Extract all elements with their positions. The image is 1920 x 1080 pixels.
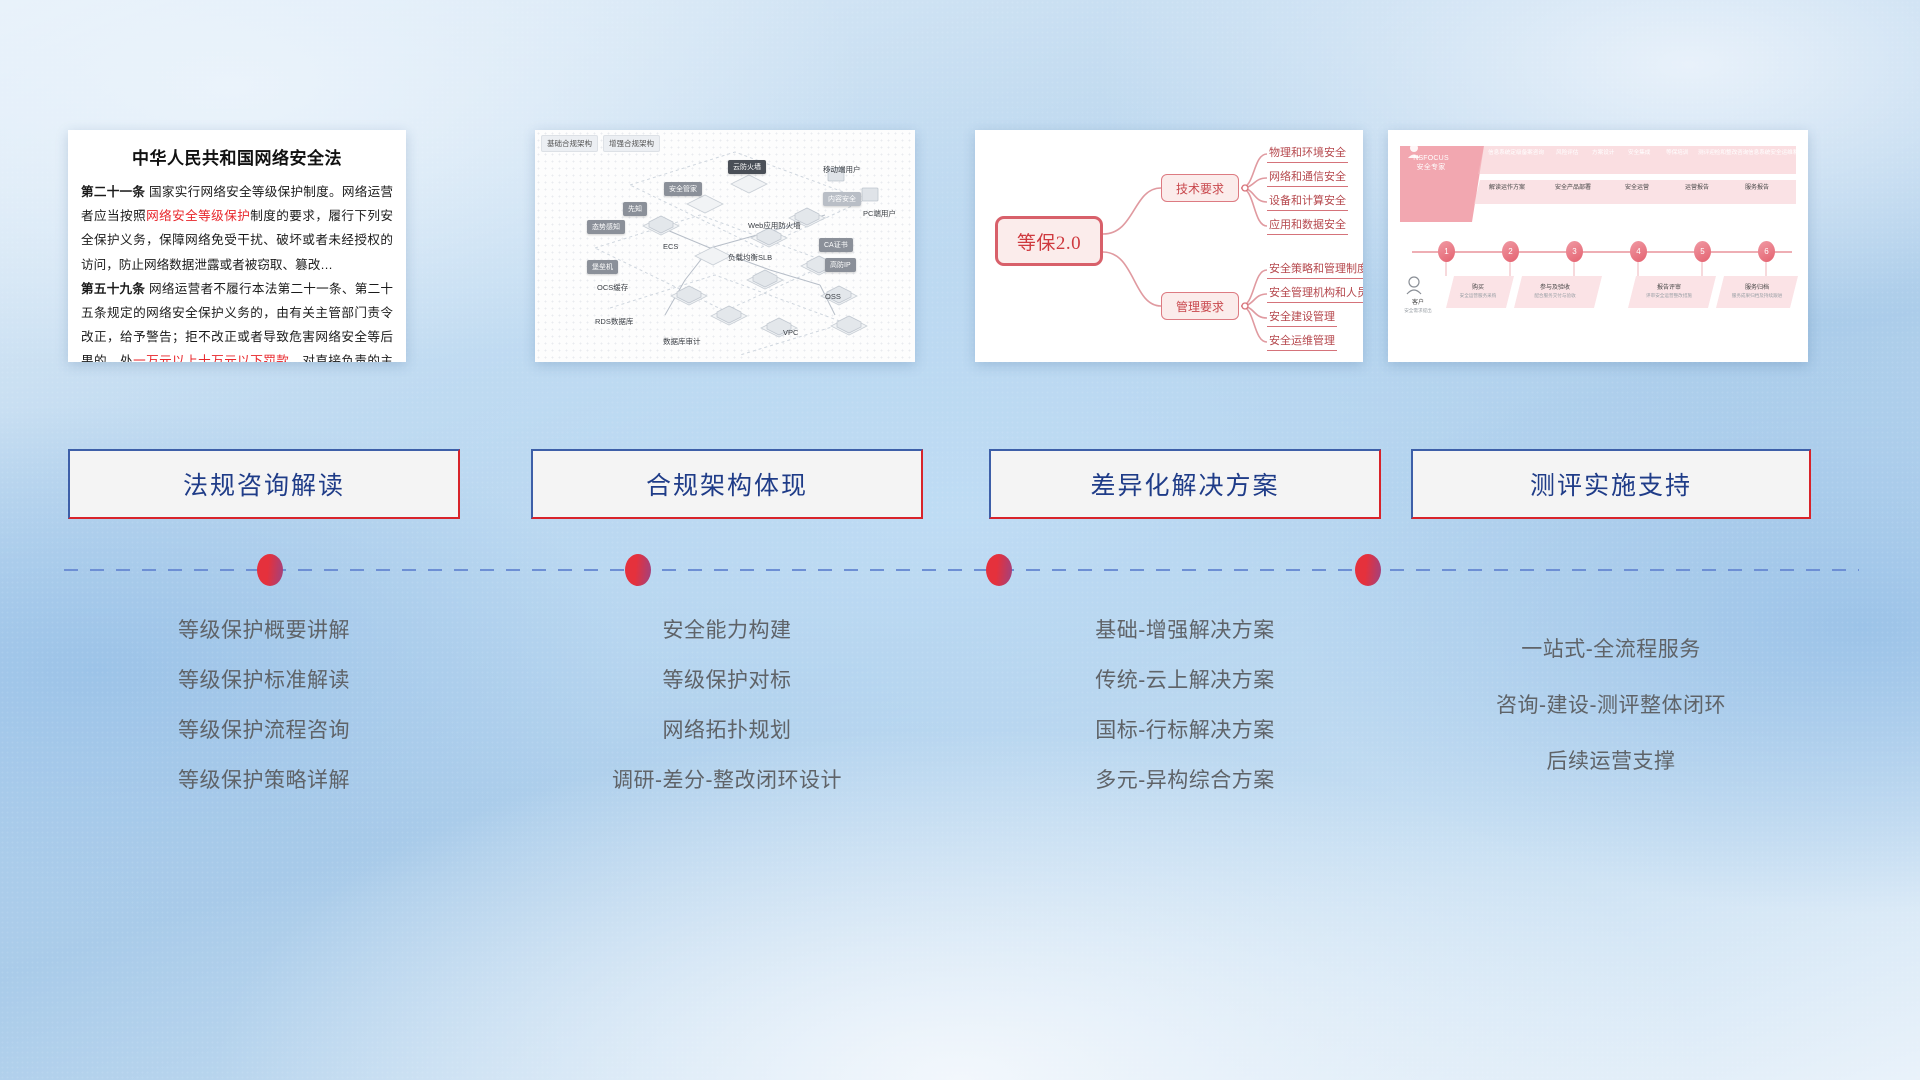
list-item: 基础-增强解决方案 <box>989 606 1381 656</box>
heading-box-regulation-consulting[interactable]: 法规咨询解读 <box>68 449 460 519</box>
timeline-step-4: 4 <box>1630 241 1647 262</box>
timeline-step-5: 5 <box>1694 241 1711 262</box>
node-ocs-cache: OCS缓存 <box>597 282 628 293</box>
action-purchase-sub: 安全运营服务采购 <box>1460 293 1497 298</box>
heading-label-regulation-consulting: 法规咨询解读 <box>183 466 345 502</box>
timeline-marker-2[interactable] <box>625 554 651 586</box>
chip-continuous-improvement: 信息系统安全运维和持续改进咨询 <box>1748 150 1808 157</box>
action-service-archive-sub: 服务成果归档及持续跟进 <box>1732 293 1783 298</box>
list-differentiated-solution: 基础-增强解决方案 传统-云上解决方案 国标-行标解决方案 多元-异构综合方案 <box>989 606 1381 806</box>
heading-box-compliance-architecture[interactable]: 合规架构体现 <box>531 449 923 519</box>
node-ca-certificate: CA证书 <box>819 238 853 252</box>
timeline <box>64 569 1859 571</box>
list-item: 等级保护对标 <box>531 656 923 706</box>
node-db-audit: 数据库审计 <box>663 336 701 347</box>
timeline-step-2: 2 <box>1502 241 1519 262</box>
stage-label-ops-report: 运营报告 <box>1672 185 1722 193</box>
mindmap-leaf-app-data: 应用和数据安全 <box>1267 216 1348 235</box>
law-body: 第二十一条 国家实行网络安全等级保护制度。网络运营者应当按照网络安全等级保护制度… <box>81 180 393 362</box>
action-report-review-label: 报告评审 <box>1657 285 1681 291</box>
list-item: 等级保护概要讲解 <box>68 606 460 656</box>
action-report-review: 报告评审 评审安全运营整改措施 <box>1634 285 1704 301</box>
card-architecture-diagram[interactable]: 基础合规架构 增强合规架构 <box>535 130 915 362</box>
action-participate-label: 参与及验收 <box>1540 285 1570 291</box>
action-service-archive-label: 服务归档 <box>1745 285 1769 291</box>
action-participate-sub: 配合服务交付与验收 <box>1534 293 1575 298</box>
law-article-59: 第五十九条 网络运营者不履行本法第二十一条、第二十五条规定的网络安全保护义务的，… <box>81 277 393 362</box>
mindmap-leaf-policy-system: 安全策略和管理制度 <box>1267 260 1363 279</box>
list-item: 一站式-全流程服务 <box>1411 622 1811 678</box>
card-mindmap[interactable]: 等保2.0 技术要求 管理要求 物理和环境安全 网络和通信安全 设备和计算安全 … <box>975 130 1363 362</box>
law-article-21-label: 第二十一条 <box>81 185 145 199</box>
mindmap-leaf-construction: 安全建设管理 <box>1267 308 1337 327</box>
chip-training: 等保培训 <box>1666 150 1688 157</box>
nsfocus-brand-tagline: 安全专家 <box>1417 164 1446 171</box>
list-item: 网络拓扑规划 <box>531 706 923 756</box>
timeline-step-6: 6 <box>1758 241 1775 262</box>
list-item: 咨询-建设-测评整体闭环 <box>1411 678 1811 734</box>
stage-label-service-report: 服务报告 <box>1732 185 1782 193</box>
list-row: 等级保护概要讲解 等级保护标准解读 等级保护流程咨询 等级保护策略详解 安全能力… <box>0 606 1920 806</box>
list-item: 调研-差分-整改闭环设计 <box>531 756 923 806</box>
customer-role: 客户 安全需求提出 <box>1396 300 1440 316</box>
action-purchase-label: 购买 <box>1472 285 1484 291</box>
nsfocus-brand-name: NSFOCUS <box>1413 155 1449 162</box>
chip-solution-design: 方案设计 <box>1592 150 1614 157</box>
node-bastion-host: 堡垒机 <box>587 260 618 274</box>
node-situation-awareness: 态势感知 <box>587 220 625 234</box>
heading-row: 法规咨询解读 合规架构体现 差异化解决方案 测评实施支持 <box>0 449 1920 519</box>
node-ecs: ECS <box>663 242 678 251</box>
heading-label-differentiated-solution: 差异化解决方案 <box>1090 466 1279 502</box>
mindmap-root-node: 等保2.0 <box>995 216 1103 266</box>
node-cloud-firewall: 云防火墙 <box>728 160 766 174</box>
timeline-marker-1[interactable] <box>257 554 283 586</box>
list-item: 安全能力构建 <box>531 606 923 656</box>
mindmap-leaf-operations: 安全运维管理 <box>1267 332 1337 351</box>
action-service-archive: 服务归档 服务成果归档及持续跟进 <box>1722 285 1792 301</box>
timeline-marker-3[interactable] <box>986 554 1012 586</box>
law-article-59-label: 第五十九条 <box>81 282 145 296</box>
list-regulation-consulting: 等级保护概要讲解 等级保护标准解读 等级保护流程咨询 等级保护策略详解 <box>68 606 460 806</box>
list-item: 等级保护策略详解 <box>68 756 460 806</box>
mindmap-branch-management: 管理要求 <box>1161 292 1239 320</box>
mindmap-leaf-org-personnel: 安全管理机构和人员 <box>1267 284 1363 303</box>
timeline-marker-4[interactable] <box>1355 554 1381 586</box>
card-nsfocus-timeline[interactable]: NSFOCUS 安全专家 信息系统定级备案咨询 风险评估 方案设计 安全集成 等… <box>1388 130 1808 362</box>
list-item: 等级保护标准解读 <box>68 656 460 706</box>
mindmap-leaf-device-compute: 设备和计算安全 <box>1267 192 1348 211</box>
timeline-dashed-line <box>64 569 1859 571</box>
node-web-waf: Web应用防火墙 <box>748 220 801 231</box>
mindmap-canvas: 等保2.0 技术要求 管理要求 物理和环境安全 网络和通信安全 设备和计算安全 … <box>975 130 1363 362</box>
card-row: 中华人民共和国网络安全法 第二十一条 国家实行网络安全等级保护制度。网络运营者应… <box>0 130 1920 366</box>
law-article-59-highlight-1: 一万元以上十万元以下罚款 <box>133 354 289 362</box>
nsfocus-canvas: NSFOCUS 安全专家 信息系统定级备案咨询 风险评估 方案设计 安全集成 等… <box>1388 130 1808 362</box>
mindmap-leaf-network-comm: 网络和通信安全 <box>1267 168 1348 187</box>
node-oss: OSS <box>825 292 841 301</box>
stage-label-operations: 安全运营 <box>1612 185 1662 193</box>
nsfocus-brand: NSFOCUS 安全专家 <box>1402 154 1460 173</box>
chip-rectification: 测评迎检和整改咨询 <box>1698 150 1748 157</box>
node-content-security: 内容安全 <box>823 192 861 206</box>
list-item: 多元-异构综合方案 <box>989 756 1381 806</box>
law-title: 中华人民共和国网络安全法 <box>81 144 393 169</box>
heading-box-differentiated-solution[interactable]: 差异化解决方案 <box>989 449 1381 519</box>
list-item: 后续运营支撑 <box>1411 734 1811 790</box>
customer-role-label: 客户 <box>1412 300 1424 306</box>
mindmap-leaf-physical-env: 物理和环境安全 <box>1267 144 1348 163</box>
action-report-review-sub: 评审安全运营整改措施 <box>1646 293 1692 298</box>
customer-role-sub: 安全需求提出 <box>1404 308 1432 313</box>
heading-box-evaluation-support[interactable]: 测评实施支持 <box>1411 449 1811 519</box>
list-compliance-architecture: 安全能力构建 等级保护对标 网络拓扑规划 调研-差分-整改闭环设计 <box>531 606 923 806</box>
mindmap-branch-technical: 技术要求 <box>1161 174 1239 202</box>
law-article-21-highlight: 网络安全等级保护 <box>146 209 250 223</box>
action-purchase: 购买 安全运营服务采购 <box>1450 285 1506 301</box>
node-xianzhi: 先知 <box>623 202 647 216</box>
stage-label-solution: 解读运作方案 <box>1478 185 1536 193</box>
node-vpc: VPC <box>783 328 798 337</box>
stage-label-deployment: 安全产品部署 <box>1544 185 1602 193</box>
node-rds-database: RDS数据库 <box>595 316 633 327</box>
timeline-step-1: 1 <box>1438 241 1455 262</box>
chip-security-integration: 安全集成 <box>1628 150 1650 157</box>
law-content: 中华人民共和国网络安全法 第二十一条 国家实行网络安全等级保护制度。网络运营者应… <box>68 130 406 362</box>
card-law-document[interactable]: 中华人民共和国网络安全法 第二十一条 国家实行网络安全等级保护制度。网络运营者应… <box>68 130 406 362</box>
list-item: 国标-行标解决方案 <box>989 706 1381 756</box>
list-item: 等级保护流程咨询 <box>68 706 460 756</box>
chip-filing-consulting: 信息系统定级备案咨询 <box>1488 150 1544 157</box>
heading-label-compliance-architecture: 合规架构体现 <box>646 466 808 502</box>
heading-label-evaluation-support: 测评实施支持 <box>1530 466 1692 502</box>
timeline-step-3: 3 <box>1566 241 1583 262</box>
node-anti-ddos-ip: 高防IP <box>825 258 856 272</box>
node-pc-user: PC端用户 <box>863 208 896 219</box>
list-evaluation-support: 一站式-全流程服务 咨询-建设-测评整体闭环 后续运营支撑 <box>1411 606 1811 790</box>
node-security-butler: 安全管家 <box>664 182 702 196</box>
list-item: 传统-云上解决方案 <box>989 656 1381 706</box>
node-mobile-user: 移动端用户 <box>823 164 861 175</box>
node-slb: 负载均衡SLB <box>728 252 772 263</box>
action-participate: 参与及验收 配合服务交付与验收 <box>1520 285 1590 301</box>
chip-risk-assessment: 风险评估 <box>1556 150 1578 157</box>
law-article-21: 第二十一条 国家实行网络安全等级保护制度。网络运营者应当按照网络安全等级保护制度… <box>81 180 393 277</box>
architecture-canvas: 基础合规架构 增强合规架构 <box>535 130 915 362</box>
